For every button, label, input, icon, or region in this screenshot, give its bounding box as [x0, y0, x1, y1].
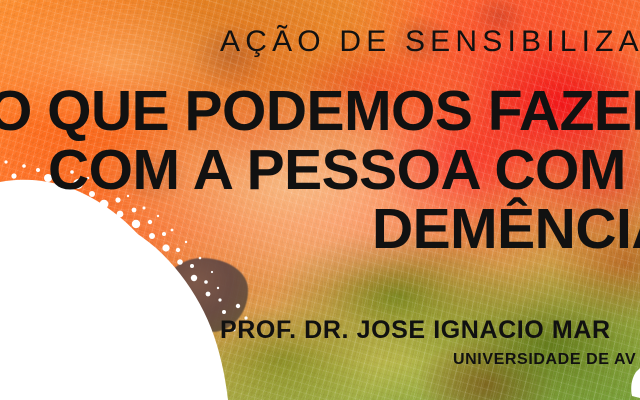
poster-canvas: AÇÃO DE SENSIBILIZAÇÃ O QUE PODEMOS FAZE…: [0, 0, 640, 400]
poster-headline-line-2: COM A PESSOA COM: [48, 142, 626, 199]
poster-headline-line-3: DEMÊNCIA: [372, 201, 640, 258]
poster-eyebrow-text: AÇÃO DE SENSIBILIZAÇÃ: [220, 27, 640, 57]
poster-presenter-name: PROF. DR. JOSE IGNACIO MAR: [220, 318, 611, 343]
poster-affiliation: UNIVERSIDADE DE AV: [453, 352, 636, 368]
poster-headline-line-1: O QUE PODEMOS FAZER: [0, 83, 640, 140]
